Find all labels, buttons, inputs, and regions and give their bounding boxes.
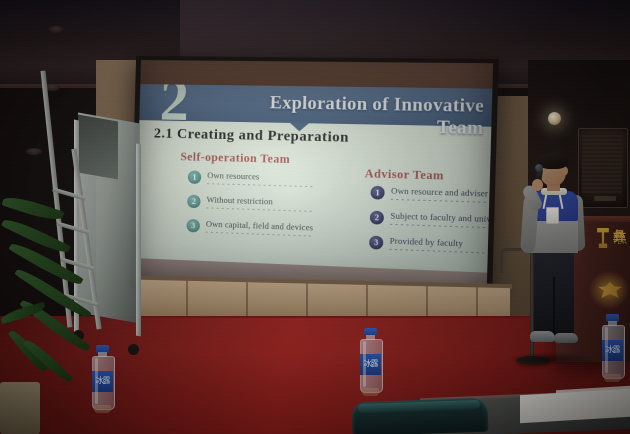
bullet-number: 1	[188, 170, 202, 183]
bullet-underline	[206, 232, 313, 237]
bullet-underline	[390, 224, 492, 229]
list-item: 1 Own resource and adviser provided	[370, 185, 371, 210]
podium-emblem-subtext: TEA	[613, 240, 628, 246]
column-heading-advisor: Advisor Team	[365, 168, 445, 183]
presenter-leg-split	[553, 277, 555, 335]
speaker-label	[594, 196, 616, 201]
presenter-sweater-bottom	[530, 219, 578, 253]
bullet-number: 2	[370, 211, 384, 225]
slide-section-number: 2	[159, 84, 188, 130]
bullet-text: Subject to faculty and university	[390, 211, 492, 224]
slide-subtitle: 2.1 Creating and Preparation	[154, 126, 349, 146]
presenter-hand	[532, 179, 543, 191]
bullet-number: 3	[369, 236, 383, 250]
bottle-highlight	[363, 341, 366, 387]
speaker-grill	[582, 133, 622, 193]
ceiling-dome-light-3	[26, 148, 42, 155]
bullet-list-self-operation: 1 Own resources 2 Without restriction 3 …	[186, 169, 188, 242]
plant-leaf	[2, 193, 65, 225]
microphone-icon	[535, 164, 543, 172]
bullet-number: 2	[187, 195, 201, 209]
list-item: 3 Own capital, field and devices	[186, 218, 187, 242]
bullet-text: Provided by faculty	[390, 236, 464, 248]
presenter	[522, 155, 584, 363]
whiteboard-caster-2	[128, 344, 139, 355]
ceiling-spot-light	[548, 112, 561, 125]
bullet-text: Own capital, field and devices	[206, 220, 313, 233]
bullet-number: 3	[186, 219, 200, 233]
bullet-text: Own resource and adviser provided	[391, 186, 492, 199]
bullet-underline	[389, 249, 492, 254]
bullet-underline	[207, 183, 315, 187]
bullet-list-advisor: 1 Own resource and adviser provided 2 Su…	[369, 185, 371, 260]
presenter-ear	[563, 167, 568, 175]
column-heading-self-operation: Self-operation Team	[180, 151, 290, 166]
plant-pot	[0, 382, 40, 434]
list-item: 3 Provided by faculty	[369, 235, 370, 260]
list-item: 2 Subject to faculty and university	[369, 210, 370, 235]
bullet-underline	[206, 207, 313, 212]
bottle-highlight	[605, 327, 608, 373]
list-item: 1 Own resources	[188, 169, 189, 193]
name-badge	[546, 207, 559, 224]
ceiling-dome-light-1	[48, 26, 64, 33]
bullet-underline	[391, 199, 493, 203]
presenter-shoe-right	[554, 333, 578, 343]
slide-content: 2 Exploration of Innovative Team 2.1 Cre…	[136, 84, 493, 273]
bottle-base	[362, 388, 379, 396]
presenter-shoe-left	[530, 331, 555, 342]
bullet-number: 1	[370, 186, 384, 200]
bottle-base	[604, 374, 621, 382]
presentation-photo: 2 Exploration of Innovative Team 2.1 Cre…	[0, 0, 630, 434]
screen-surface: 2 Exploration of Innovative Team 2.1 Cre…	[135, 60, 493, 300]
bullet-text: Own resources	[207, 171, 259, 182]
bullet-text: Without restriction	[206, 195, 272, 206]
whiteboard-frame-right	[136, 144, 141, 337]
projection-screen[interactable]: 2 Exploration of Innovative Team 2.1 Cre…	[130, 56, 499, 305]
list-item: 2 Without restriction	[187, 194, 188, 218]
